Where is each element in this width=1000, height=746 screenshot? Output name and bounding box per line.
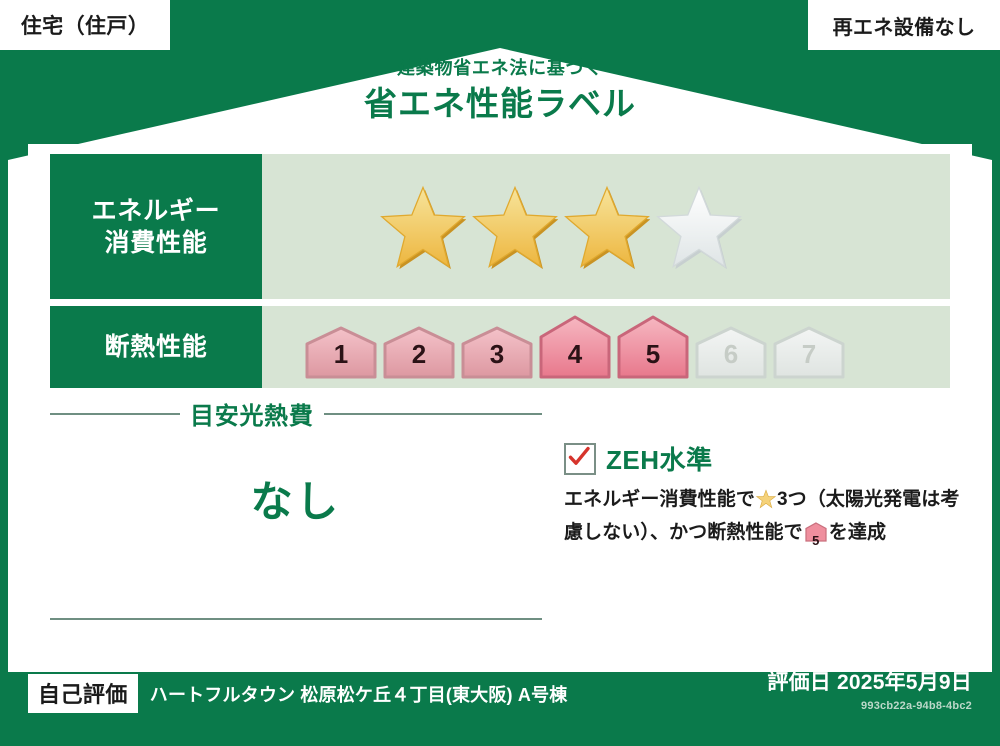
inline-star-icon bbox=[756, 489, 776, 519]
energy-label-line-2: 消費性能 bbox=[104, 227, 207, 259]
energy-performance-label-box: エネルギー 消費性能 bbox=[50, 154, 262, 299]
insulation-performance-row: 断熱性能 1234567 bbox=[50, 306, 950, 388]
title-block: 建築物省エネ法に基づく 省エネ性能ラベル bbox=[0, 58, 1000, 125]
insulation-grade-4: 4 bbox=[538, 315, 612, 379]
inline-grade-number: 5 bbox=[805, 531, 827, 551]
property-name: ハートフルタウン 松原松ケ丘４丁目(東大阪) A号棟 bbox=[150, 681, 568, 707]
star-filled-icon bbox=[472, 184, 558, 270]
evaluation-id: 993cb22a-94b8-4bc2 bbox=[767, 700, 972, 712]
energy-performance-label: 住宅（住戸） 再エネ設備なし 建築物省エネ法に基づく 省エネ性能ラベル エネルギ… bbox=[0, 0, 1000, 746]
zeh-title-row: ZEH水準 bbox=[564, 440, 974, 477]
insulation-grade-6: 6 bbox=[694, 326, 768, 379]
estimated-utility-cost-heading: 目安光熱費 bbox=[50, 396, 542, 431]
estimated-utility-cost-section: 目安光熱費 なし bbox=[50, 396, 542, 626]
inline-grade-5-icon: 5 bbox=[805, 522, 827, 552]
checkmark-icon bbox=[567, 445, 591, 469]
grade-number: 4 bbox=[538, 339, 612, 370]
grade-number: 1 bbox=[304, 339, 378, 370]
insulation-grade-scale: 1234567 bbox=[304, 315, 846, 379]
star-empty-icon bbox=[656, 184, 742, 270]
zeh-standard-title: ZEH水準 bbox=[606, 440, 713, 477]
zeh-desc-part-1: エネルギー消費性能で bbox=[564, 489, 755, 510]
grade-number: 2 bbox=[382, 339, 456, 370]
energy-label-line-1: エネルギー bbox=[92, 195, 221, 227]
zeh-checkbox[interactable] bbox=[564, 443, 596, 475]
page-title: 省エネ性能ラベル bbox=[0, 83, 1000, 126]
star-rating bbox=[380, 184, 742, 270]
footer-left-group: 自己評価 ハートフルタウン 松原松ケ丘４丁目(東大阪) A号棟 bbox=[28, 674, 567, 713]
zeh-desc-part-3: を達成 bbox=[829, 522, 886, 543]
energy-performance-row: エネルギー 消費性能 bbox=[50, 154, 950, 299]
zeh-standard-description: エネルギー消費性能で3つ（太陽光発電は考慮しない）、かつ断熱性能で5を達成 bbox=[564, 486, 974, 551]
insulation-performance-label-box: 断熱性能 bbox=[50, 306, 262, 388]
insulation-grade-2: 2 bbox=[382, 326, 456, 379]
evaluation-type-badge: 自己評価 bbox=[28, 674, 138, 713]
building-type-tag: 住宅（住戸） bbox=[0, 0, 170, 50]
estimated-utility-cost-title: 目安光熱費 bbox=[190, 396, 314, 431]
grade-number: 6 bbox=[694, 339, 768, 370]
renewable-equipment-tag: 再エネ設備なし bbox=[808, 0, 1000, 50]
insulation-grade-5: 5 bbox=[616, 315, 690, 379]
zeh-standard-section: ZEH水準 エネルギー消費性能で3つ（太陽光発電は考慮しない）、かつ断熱性能で5… bbox=[564, 440, 974, 551]
energy-performance-value bbox=[262, 154, 950, 299]
insulation-label: 断熱性能 bbox=[104, 331, 207, 363]
star-filled-icon bbox=[380, 184, 466, 270]
content-card: エネルギー 消費性能 断熱性能 1234567 目安光熱費 なし bbox=[28, 144, 972, 652]
grade-number: 7 bbox=[772, 339, 846, 370]
insulation-grade-3: 3 bbox=[460, 326, 534, 379]
grade-number: 3 bbox=[460, 339, 534, 370]
estimated-utility-cost-value: なし bbox=[50, 468, 542, 529]
heading-rule-right bbox=[324, 413, 542, 415]
cost-section-bottom-rule bbox=[50, 618, 542, 620]
insulation-grade-1: 1 bbox=[304, 326, 378, 379]
insulation-grade-7: 7 bbox=[772, 326, 846, 379]
star-filled-icon bbox=[564, 184, 650, 270]
insulation-performance-value: 1234567 bbox=[262, 306, 950, 388]
evaluation-date: 評価日 2025年5月9日 bbox=[767, 666, 972, 696]
footer-right-group: 評価日 2025年5月9日 993cb22a-94b8-4bc2 bbox=[767, 666, 972, 712]
grade-number: 5 bbox=[616, 339, 690, 370]
heading-rule-left bbox=[50, 413, 180, 415]
title-subtitle: 建築物省エネ法に基づく bbox=[0, 58, 1000, 80]
label-footer: 自己評価 ハートフルタウン 松原松ケ丘４丁目(東大阪) A号棟 評価日 2025… bbox=[0, 652, 1000, 746]
